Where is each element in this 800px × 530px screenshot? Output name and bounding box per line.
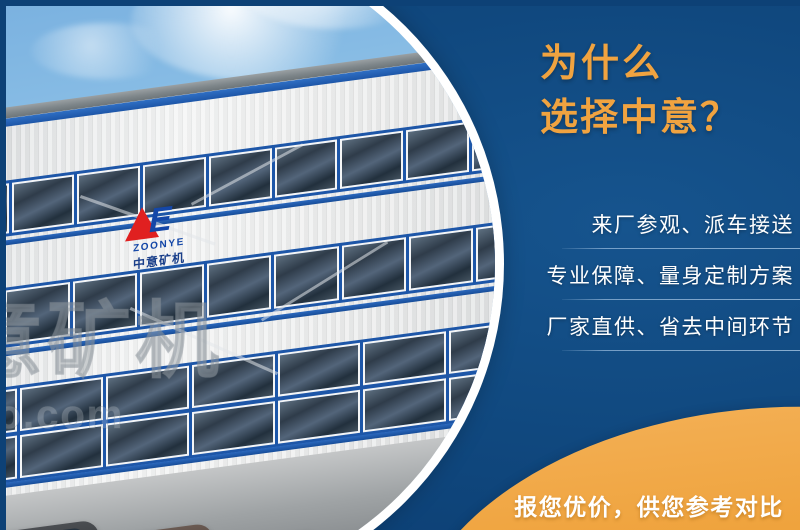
window-pane [20, 424, 103, 478]
window-pane [449, 366, 495, 420]
window-pane [192, 354, 275, 408]
window-pane [340, 131, 403, 189]
photo-medallion: E ZOONYE 中意矿机 [0, 0, 504, 530]
benefit-text: 专业保障、量身定制方案 [547, 260, 795, 290]
window-pane [363, 331, 446, 385]
benefit-list: 来厂参观、派车接送 专业保障、量身定制方案 厂家直供、省去中间环节 [530, 198, 800, 351]
list-item: 厂家直供、省去中间环节 [530, 300, 800, 351]
window-pane [275, 139, 338, 197]
window-pane [406, 122, 469, 180]
logo-letter: E [149, 201, 172, 238]
photo-medallion-inner: E ZOONYE 中意矿机 [0, 0, 495, 530]
window-pane [278, 389, 361, 443]
factory-photo: E ZOONYE 中意矿机 [0, 0, 495, 530]
cloud-icon [31, 23, 181, 79]
window-pane [5, 282, 69, 345]
window-pane [472, 113, 495, 171]
window-pane [207, 255, 271, 318]
window-pane [20, 377, 103, 431]
window-pane [0, 291, 2, 354]
promo-banner: E ZOONYE 中意矿机 [0, 0, 800, 530]
window-pane [476, 219, 495, 282]
headline: 为什么 选择中意？ [540, 38, 790, 146]
benefit-text: 厂家直供、省去中间环节 [547, 311, 795, 341]
list-item: 来厂参观、派车接送 [530, 198, 800, 249]
cta-text[interactable]: 报您优价，供您参考对比 [498, 488, 800, 522]
headline-line-1: 为什么 [540, 38, 790, 92]
window-pane [409, 228, 473, 291]
window-pane [449, 320, 495, 374]
list-item: 专业保障、量身定制方案 [530, 249, 800, 300]
window-pane [12, 174, 75, 232]
list-divider [562, 350, 800, 351]
window-pane [0, 183, 9, 241]
window-pane [342, 237, 406, 300]
company-logo: E ZOONYE 中意矿机 [103, 196, 215, 285]
window-pane [363, 378, 446, 432]
headline-line-2: 选择中意？ [540, 92, 790, 146]
window-pane [278, 343, 361, 397]
window-pane [106, 412, 189, 466]
benefit-text: 来厂参观、派车接送 [592, 209, 795, 239]
window-pane [192, 401, 275, 455]
window-pane [106, 366, 189, 420]
